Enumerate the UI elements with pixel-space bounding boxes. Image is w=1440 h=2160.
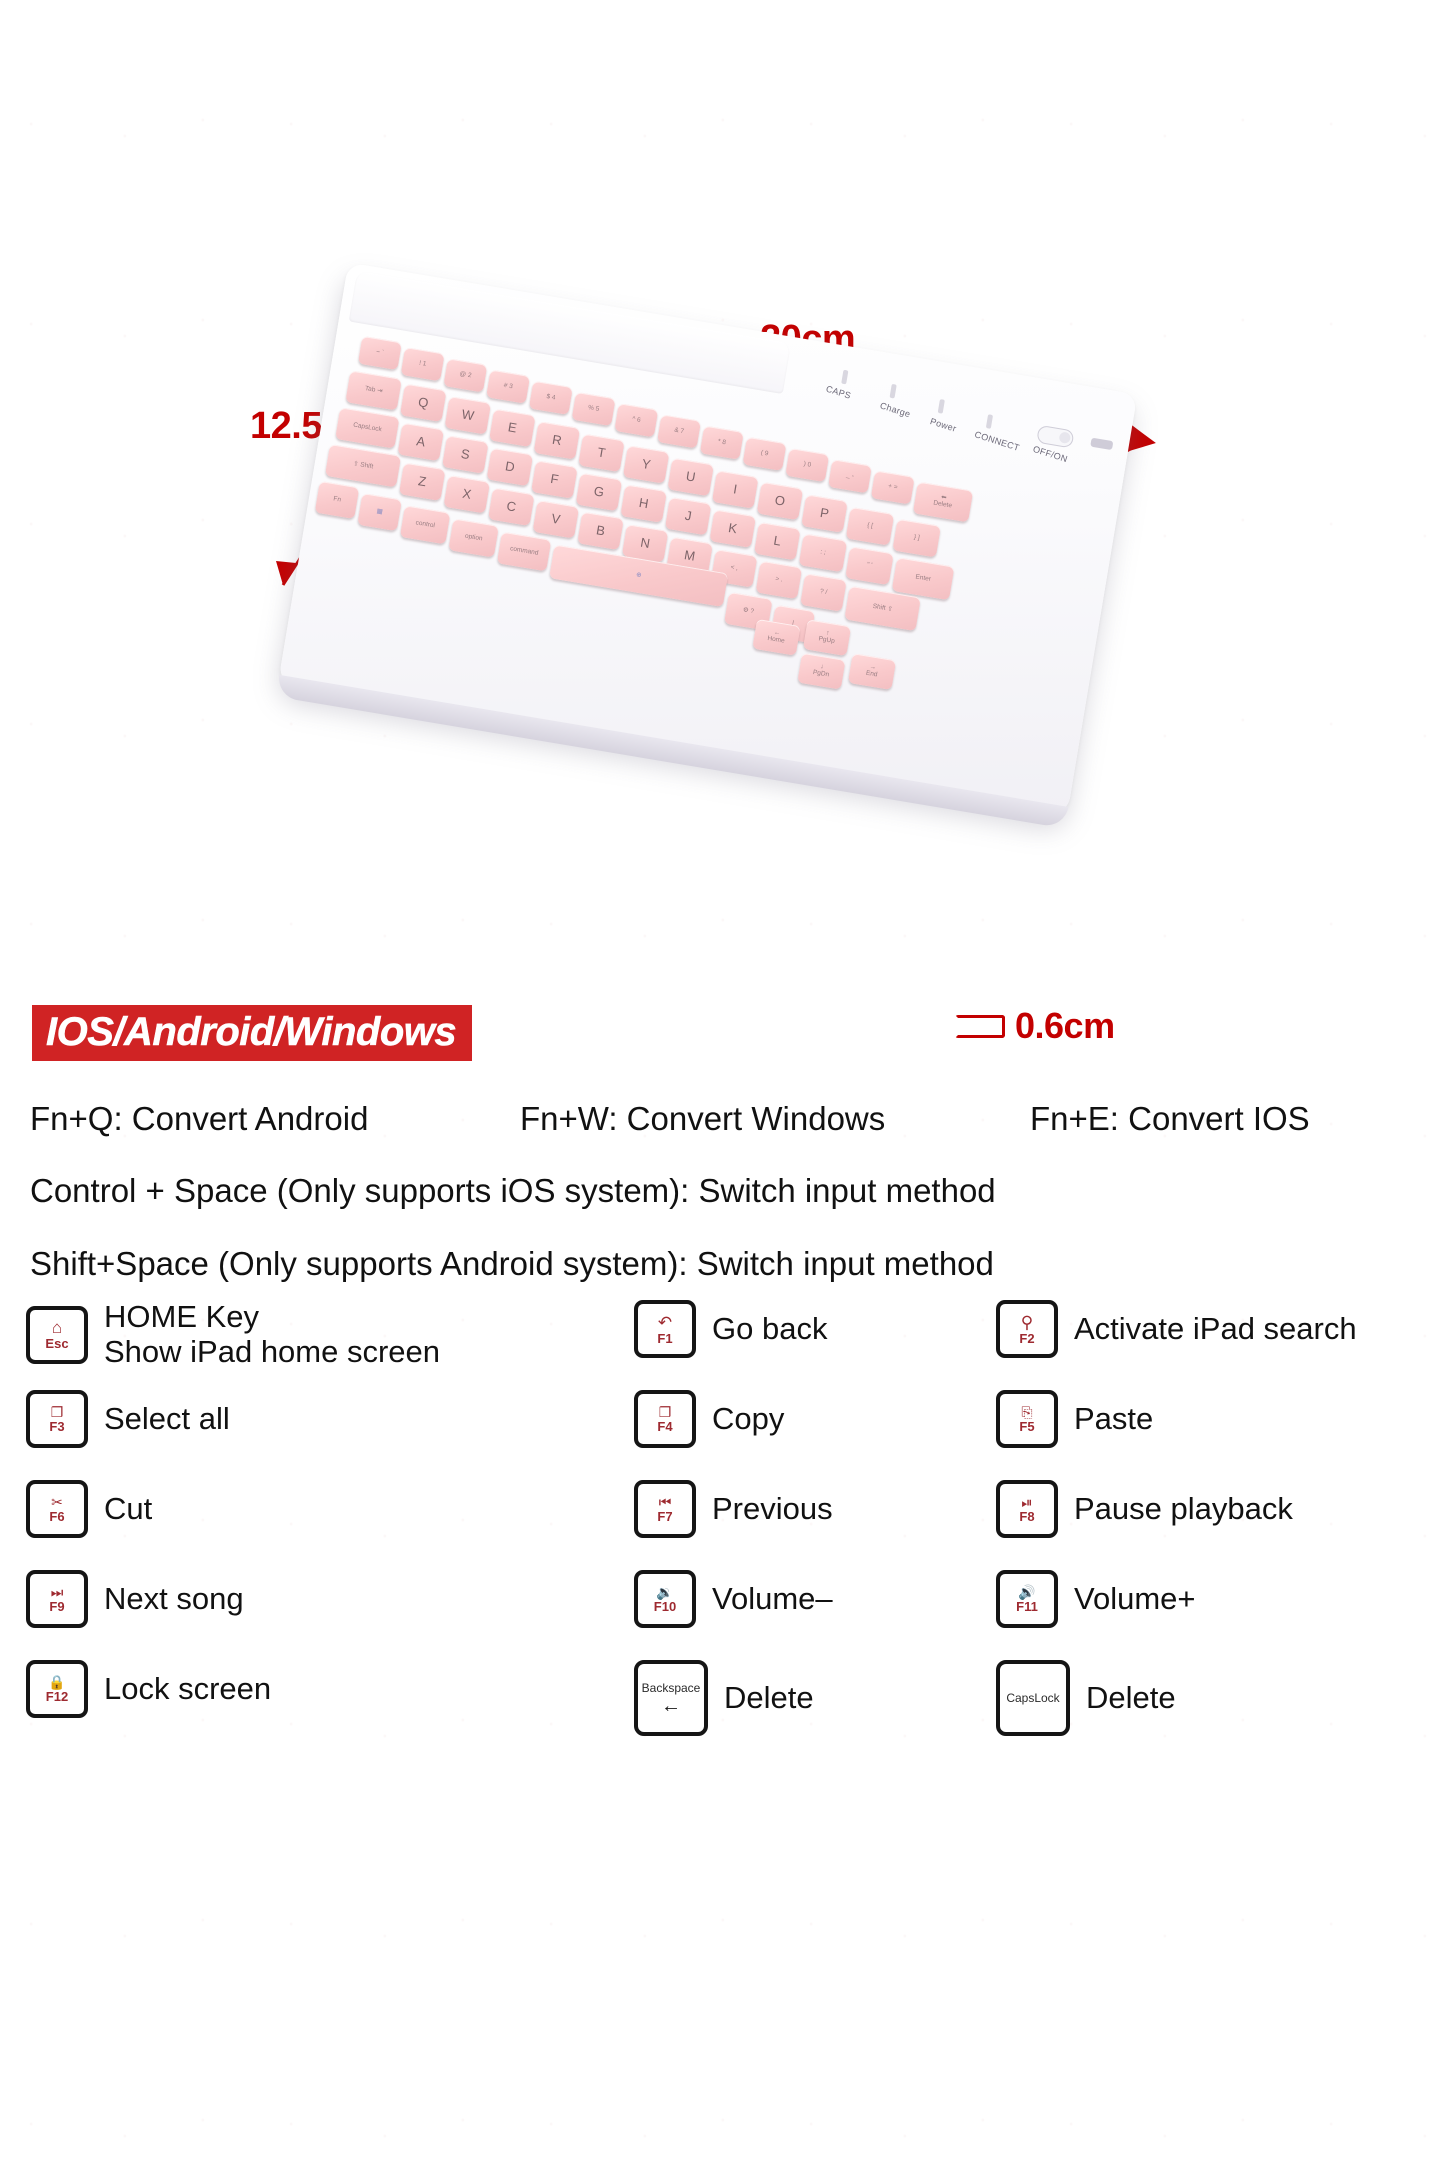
key-bracket-left[interactable]: { [ [846,507,895,546]
cut-icon-key[interactable]: ✂ F6 [26,1480,88,1538]
next-track-icon-key[interactable]: ⏭ F9 [26,1570,88,1628]
key-c[interactable]: C [488,488,535,526]
key-1[interactable]: ! 1 [401,347,445,381]
key-name-label: F8 [1019,1510,1034,1523]
search-icon: ⚲ [1021,1314,1033,1331]
key-t[interactable]: T [578,434,625,472]
back-arrow-icon: ↶ [658,1314,672,1331]
fn-description: Go back [712,1312,827,1347]
fn-description: Activate iPad search [1074,1312,1357,1347]
scissors-icon: ✂ [51,1495,63,1509]
table-row: ⌂ Esc HOME Key Show iPad home screen ↶ F… [26,1300,1426,1390]
key-name-label: F1 [657,1332,672,1345]
key-name-label: F6 [49,1510,64,1523]
charging-port [1090,438,1113,451]
volume-down-icon-key[interactable]: 🔉 F10 [634,1570,696,1628]
key-name-label: F11 [1016,1600,1038,1613]
key-g[interactable]: G [576,473,623,511]
fn-description: Cut [104,1492,152,1527]
fn-entry-f5: ⎘ F5 Paste [996,1390,1153,1448]
key-semicolon[interactable]: : ; [799,533,848,572]
fn-description: Delete [724,1681,814,1716]
key-w[interactable]: W [444,396,491,434]
key-name-label: F5 [1019,1420,1034,1433]
key-option[interactable]: option [448,518,499,557]
key-9[interactable]: ( 9 [742,437,786,471]
key-period[interactable]: > . [756,561,803,599]
key-q[interactable]: Q [400,384,447,422]
key-e[interactable]: E [489,409,536,447]
fn-description: HOME Key Show iPad home screen [104,1300,440,1369]
key-o[interactable]: O [757,482,804,520]
table-row: 🔒 F12 Lock screen Backspace ← Delete Cap… [26,1660,1426,1750]
fn-entry-f2: ⚲ F2 Activate iPad search [996,1300,1357,1358]
go-back-icon-key[interactable]: ↶ F1 [634,1300,696,1358]
key-command-left[interactable]: command [497,532,552,572]
key-s[interactable]: S [442,435,489,473]
key-2[interactable]: @ 2 [443,358,487,392]
key-name-label: F3 [49,1420,64,1433]
key-d[interactable]: D [487,448,534,486]
select-all-icon-key[interactable]: ❐ F3 [26,1390,88,1448]
fn-description: Paste [1074,1402,1153,1437]
copy-icon-key[interactable]: ❐ F4 [634,1390,696,1448]
key-l[interactable]: L [754,522,801,560]
shortcut-shift-space: Shift+Space (Only supports Android syste… [30,1245,1420,1283]
shortcut-convert-windows: Fn+W: Convert Windows [520,1100,885,1138]
fn-description: Previous [712,1492,833,1527]
fn-description: Select all [104,1402,230,1437]
function-key-reference-table: ⌂ Esc HOME Key Show iPad home screen ↶ F… [26,1300,1426,1750]
fn-description: Lock screen [104,1672,271,1707]
key-home[interactable]: ←Home [752,619,800,656]
key-name-label: CapsLock [1006,1691,1059,1706]
fn-description: Next song [104,1582,244,1617]
key-b[interactable]: B [577,512,624,550]
fn-entry-f10: 🔉 F10 Volume– [634,1570,833,1628]
home-icon-key[interactable]: ⌂ Esc [26,1306,88,1364]
thickness-bracket-icon [955,1015,1005,1038]
key-i[interactable]: I [712,470,759,508]
key-end[interactable]: →End [848,653,896,690]
backspace-key[interactable]: Backspace ← [634,1660,708,1736]
key-name-label: F4 [657,1420,672,1433]
key-h[interactable]: H [620,484,667,522]
fn-entry-f4: ❐ F4 Copy [634,1390,784,1448]
paste-icon-key[interactable]: ⎘ F5 [996,1390,1058,1448]
key-fn[interactable]: Fn [315,481,360,519]
product-photo: 20cm 12.5cm CAPS Charge Power CONNECT OF… [0,280,1440,1040]
os-compatibility-banner: IOS/Android/Windows [32,1005,472,1061]
key-quote[interactable]: " ' [845,546,894,585]
fn-description: Volume+ [1074,1582,1196,1617]
capslock-key[interactable]: CapsLock [996,1660,1070,1736]
lock-icon: 🔒 [48,1675,65,1689]
key-v[interactable]: V [533,500,580,538]
key-pgdn[interactable]: ↓PgDn [797,653,845,690]
fn-description: Volume– [712,1582,833,1617]
table-row: ❐ F3 Select all ❐ F4 Copy ⎘ F5 Paste [26,1390,1426,1480]
fn-entry-backspace: Backspace ← Delete [634,1660,814,1736]
previous-track-icon: ⏮ [659,1495,672,1509]
key-3[interactable]: # 3 [486,369,530,403]
key-control[interactable]: control [400,505,451,544]
key-8[interactable]: * 8 [700,426,744,460]
key-0[interactable]: ) 0 [785,448,829,482]
volume-up-icon-key[interactable]: 🔊 F11 [996,1570,1058,1628]
paste-icon: ⎘ [1021,1405,1032,1419]
key-p[interactable]: P [801,494,848,532]
led-power [938,399,945,414]
key-name-label: F2 [1019,1332,1034,1345]
home-icon: ⌂ [52,1319,62,1336]
key-y[interactable]: Y [623,445,670,483]
left-arrow-icon: ← [661,1696,681,1716]
fn-entry-f7: ⏮ F7 Previous [634,1480,833,1538]
key-4[interactable]: $ 4 [529,381,573,415]
key-a[interactable]: A [397,423,444,461]
key-k[interactable]: K [709,509,756,547]
volume-down-icon: 🔉 [656,1585,673,1599]
key-tilde[interactable]: ~ ` [358,336,402,370]
table-row: ✂ F6 Cut ⏮ F7 Previous ⏯ F8 Pause playba… [26,1480,1426,1570]
fn-entry-f12: 🔒 F12 Lock screen [26,1660,271,1718]
key-7[interactable]: & 7 [657,414,701,448]
key-name-label: F10 [654,1600,676,1613]
key-pgup[interactable]: ↑PgUp [803,619,851,656]
fn-entry-f1: ↶ F1 Go back [634,1300,827,1358]
play-pause-icon: ⏯ [1021,1495,1032,1509]
shortcut-convert-ios: Fn+E: Convert IOS [1030,1100,1310,1138]
fn-entry-f6: ✂ F6 Cut [26,1480,152,1538]
key-j[interactable]: J [665,497,712,535]
key-z[interactable]: Z [399,462,446,500]
os-banner-text: IOS/Android/Windows [46,1010,456,1054]
play-pause-icon-key[interactable]: ⏯ F8 [996,1480,1058,1538]
fn-entry-f3: ❐ F3 Select all [26,1390,230,1448]
fn-description: Delete [1086,1681,1176,1716]
led-connect [986,414,993,429]
fn-entry-capslock: CapsLock Delete [996,1660,1176,1736]
shortcut-control-space: Control + Space (Only supports iOS syste… [30,1172,1420,1210]
next-track-icon: ⏭ [51,1585,64,1599]
key-name-label: Backspace [642,1681,701,1696]
key-f[interactable]: F [531,460,578,498]
key-globe[interactable]: ▦ [357,493,402,531]
power-switch[interactable] [1036,425,1074,449]
volume-up-icon: 🔊 [1018,1585,1035,1599]
previous-track-icon-key[interactable]: ⏮ F7 [634,1480,696,1538]
lock-screen-icon-key[interactable]: 🔒 F12 [26,1660,88,1718]
thickness-callout: 0.6cm [955,1005,1115,1047]
key-tab[interactable]: Tab ⇥ [345,370,402,410]
fn-description: Pause playback [1074,1492,1293,1527]
fn-entry-f8: ⏯ F8 Pause playback [996,1480,1293,1538]
thickness-label: 0.6cm [1015,1005,1115,1047]
key-u[interactable]: U [667,458,714,496]
key-6[interactable]: ^ 6 [614,403,658,437]
table-row: ⏭ F9 Next song 🔉 F10 Volume– 🔊 F11 Volum… [26,1570,1426,1660]
key-name-label: Esc [45,1337,68,1350]
led-charge [890,384,897,399]
key-bracket-right[interactable]: } ] [892,519,941,558]
key-delete[interactable]: ⬅Delete [913,482,974,523]
key-x[interactable]: X [443,475,490,513]
key-5[interactable]: % 5 [572,392,616,426]
fn-description-line2: Show iPad home screen [104,1335,440,1370]
key-name-label: F12 [46,1690,68,1703]
fn-description-line1: HOME Key [104,1299,259,1334]
fn-entry-f9: ⏭ F9 Next song [26,1570,244,1628]
key-slash[interactable]: ? / [800,573,847,611]
key-capslock[interactable]: CapsLock [335,407,399,448]
fn-entry-esc: ⌂ Esc HOME Key Show iPad home screen [26,1300,440,1369]
fn-entry-f11: 🔊 F11 Volume+ [996,1570,1196,1628]
fn-description: Copy [712,1402,784,1437]
key-name-label: F9 [49,1600,64,1613]
key-r[interactable]: R [534,421,581,459]
key-minus[interactable]: _ - [828,459,872,493]
indicator-label-charge: Charge [879,400,912,419]
key-name-label: F7 [657,1510,672,1523]
shortcut-convert-android: Fn+Q: Convert Android [30,1100,368,1138]
led-caps [841,370,848,385]
key-equals[interactable]: + = [871,470,915,504]
select-all-icon: ❐ [51,1405,64,1419]
copy-icon: ❐ [659,1405,672,1419]
search-icon-key[interactable]: ⚲ F2 [996,1300,1058,1358]
